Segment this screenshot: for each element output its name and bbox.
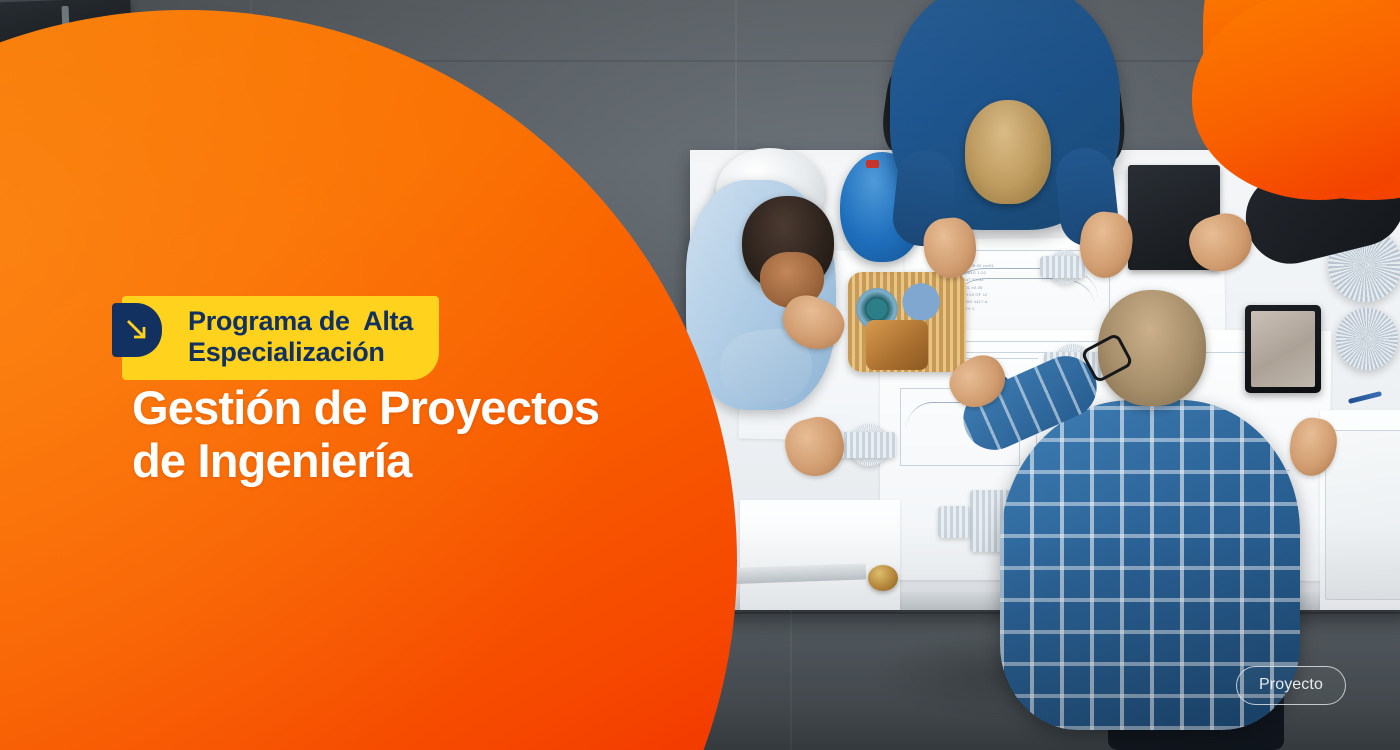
- page-title: Gestión de Proyectos de Ingeniería: [132, 382, 599, 487]
- page-title-line-1: Gestión de Proyectos: [132, 382, 599, 435]
- page-title-line-2: de Ingeniería: [132, 435, 599, 488]
- promo-banner: CAD B-92 rev01SCALE 1:20MAT ST-52TOL ±0.…: [0, 0, 1400, 750]
- program-badge-panel: Programa de Alta Especialización: [122, 296, 439, 380]
- arrow-down-right-icon: [112, 303, 162, 357]
- banner-content: Programa de Alta Especialización Gestión…: [0, 0, 1400, 750]
- category-tag-button[interactable]: Proyecto: [1236, 666, 1346, 705]
- program-badge-line-2: Especialización: [188, 337, 413, 368]
- program-badge-line-1: Programa de Alta: [188, 306, 413, 337]
